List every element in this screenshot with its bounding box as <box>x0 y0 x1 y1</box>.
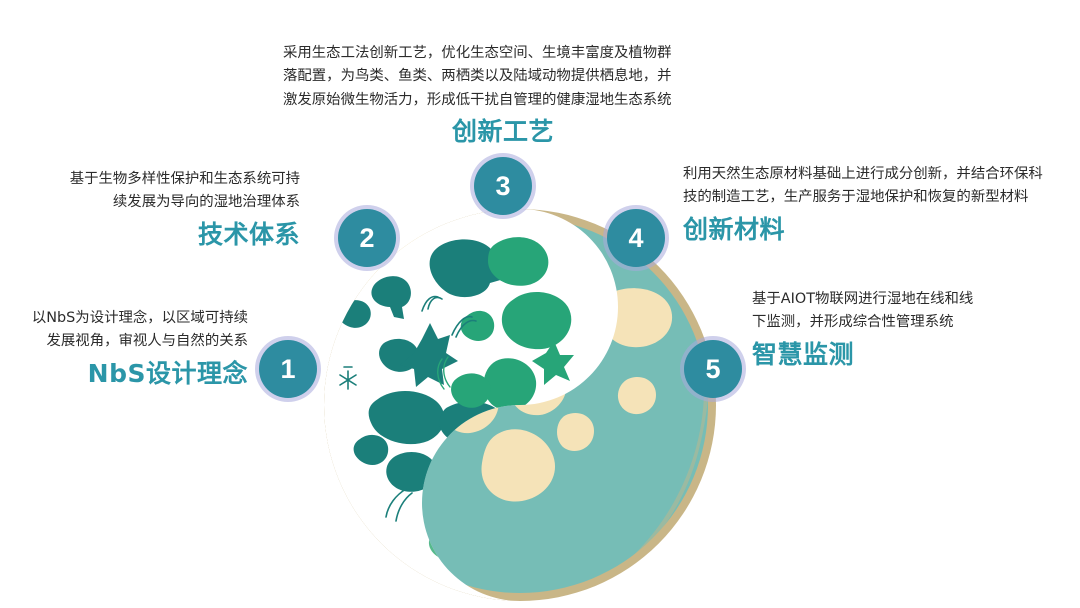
node-circle-5[interactable]: 5 <box>684 340 742 398</box>
item-heading-5: 智慧监测 <box>752 341 1070 370</box>
diagram-canvas: 1 2 3 4 5 以NbS为设计理念，以区域可持续 发展视角，审视人与自然的关… <box>0 0 1080 608</box>
node-circle-2[interactable]: 2 <box>338 209 396 267</box>
item-description-5: 基于AIOT物联网进行湿地在线和线 下监测，并形成综合性管理系统 <box>752 288 1070 335</box>
item-heading-4: 创新材料 <box>683 216 1075 245</box>
item-block-5: 基于AIOT物联网进行湿地在线和线 下监测，并形成综合性管理系统 智慧监测 <box>752 288 1070 369</box>
item-block-2: 基于生物多样性保护和生态系统可持 续发展为导向的湿地治理体系 技术体系 <box>40 168 300 249</box>
node-number-3: 3 <box>495 173 510 200</box>
node-circle-1[interactable]: 1 <box>259 340 317 398</box>
node-circle-3[interactable]: 3 <box>474 157 532 215</box>
item-block-1: 以NbS为设计理念，以区域可持续 发展视角，审视人与自然的关系 NbS设计理念 <box>0 307 248 388</box>
item-description-2: 基于生物多样性保护和生态系统可持 续发展为导向的湿地治理体系 <box>40 168 300 215</box>
node-number-2: 2 <box>359 225 374 252</box>
node-circle-4[interactable]: 4 <box>607 209 665 267</box>
item-heading-3: 创新工艺 <box>283 118 723 147</box>
node-number-1: 1 <box>280 356 295 383</box>
item-block-4: 利用天然生态原材料基础上进行成分创新，并结合环保科 技的制造工艺，生产服务于湿地… <box>683 163 1075 244</box>
item-description-1: 以NbS为设计理念，以区域可持续 发展视角，审视人与自然的关系 <box>0 307 248 354</box>
item-description-3: 采用生态工法创新工艺，优化生态空间、生境丰富度及植物群 落配置，为鸟类、鱼类、两… <box>283 42 723 112</box>
node-number-4: 4 <box>628 225 643 252</box>
item-heading-1: NbS设计理念 <box>0 360 248 389</box>
item-description-4: 利用天然生态原材料基础上进行成分创新，并结合环保科 技的制造工艺，生产服务于湿地… <box>683 163 1075 210</box>
item-block-3: 采用生态工法创新工艺，优化生态空间、生境丰富度及植物群 落配置，为鸟类、鱼类、两… <box>283 42 723 147</box>
node-number-5: 5 <box>705 356 720 383</box>
item-heading-2: 技术体系 <box>40 221 300 250</box>
